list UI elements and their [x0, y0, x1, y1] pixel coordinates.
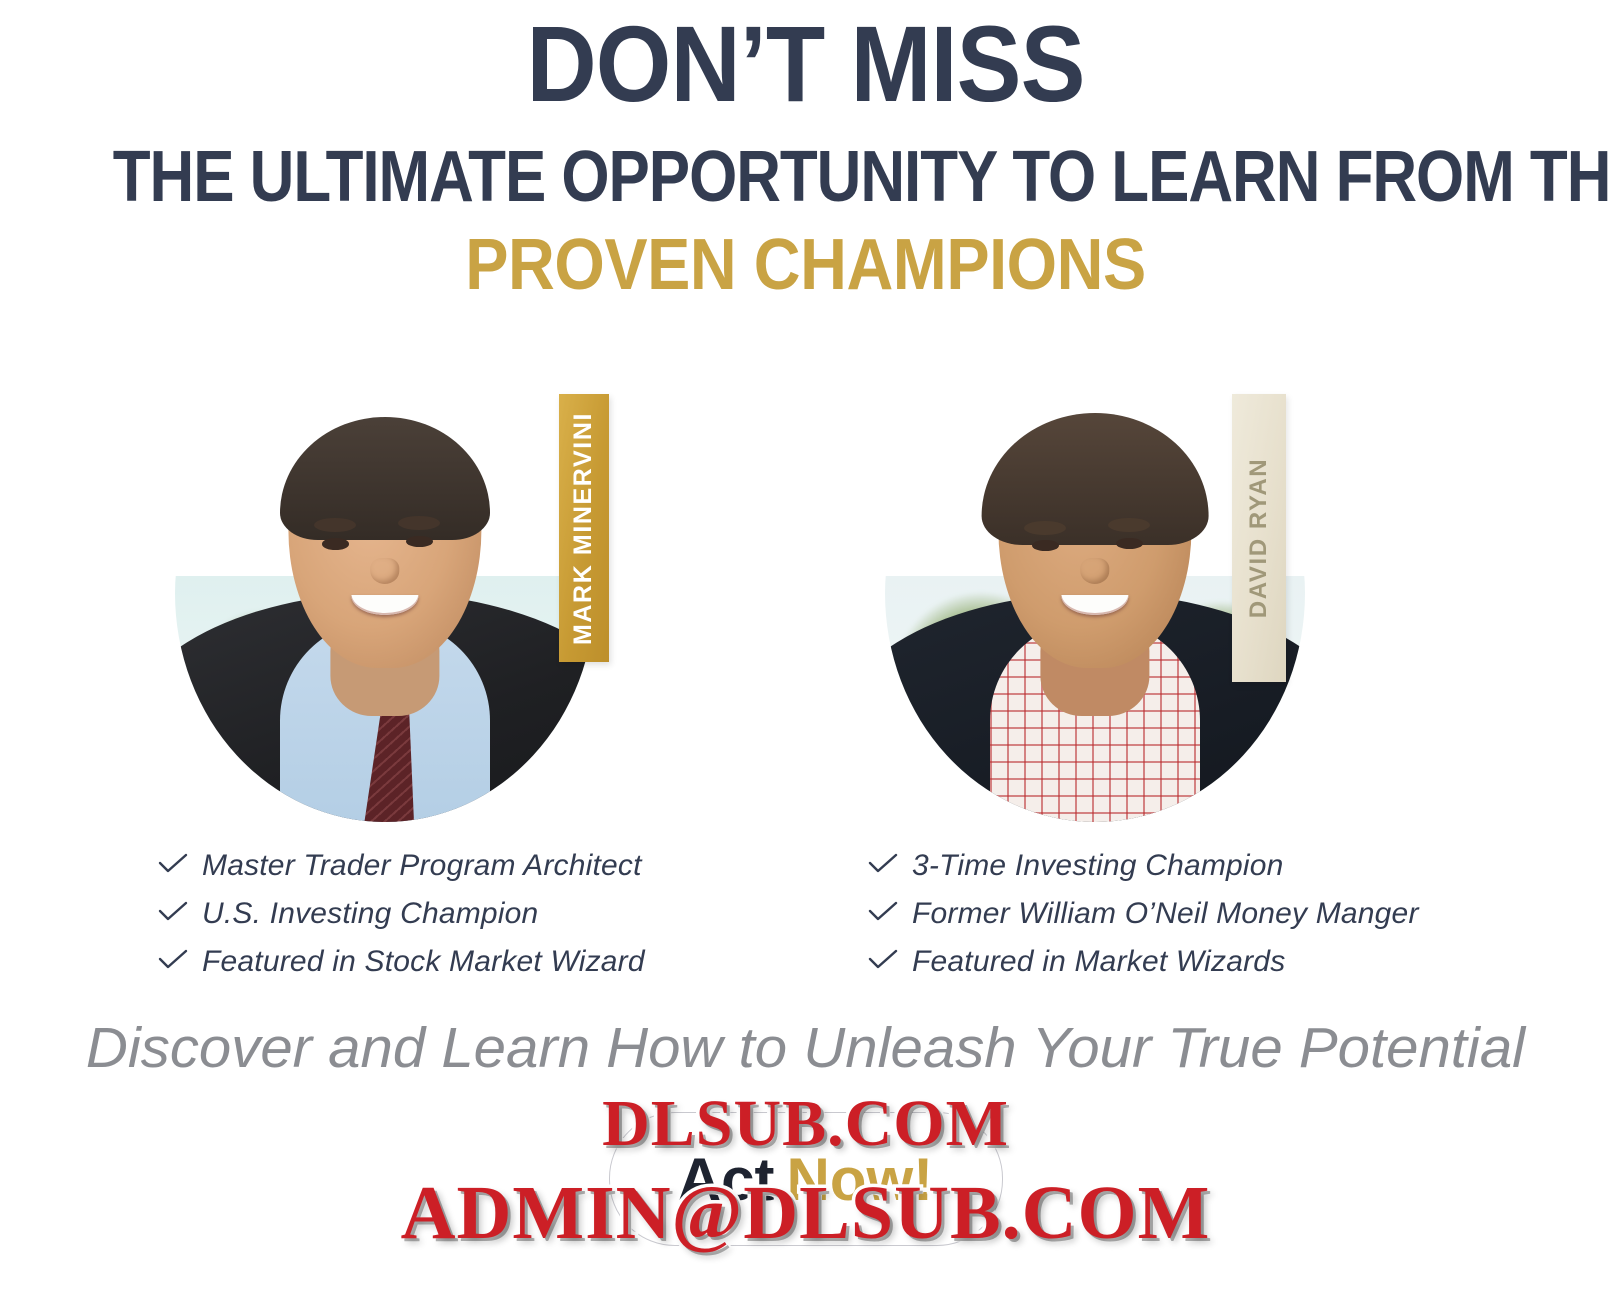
portrait-brow-left [1024, 521, 1066, 535]
headline-line-3: PROVEN CHAMPIONS [81, 226, 1531, 304]
portrait-eye-left [1032, 540, 1059, 551]
check-icon [158, 941, 202, 971]
credentials-list-mark-minervini: Master Trader Program Architect U.S. Inv… [158, 845, 645, 989]
watermark-email: ADMIN@DLSUB.COM [401, 1170, 1211, 1257]
speakers-row: MARK MINERVINI [0, 372, 1611, 842]
headline-line-2: THE ULTIMATE OPPORTUNITY TO LEARN FROM T… [113, 138, 1498, 216]
check-icon [868, 845, 912, 875]
headline-block: DON’T MISS THE ULTIMATE OPPORTUNITY TO L… [0, 0, 1611, 304]
speaker-name-label: DAVID RYAN [1245, 458, 1273, 618]
headline-line-1: DON’T MISS [81, 8, 1531, 120]
credential-label: Featured in Stock Market Wizard [202, 942, 645, 982]
speaker-name-banner-mark-minervini: MARK MINERVINI [559, 394, 609, 662]
credential-label: 3-Time Investing Champion [912, 846, 1284, 886]
check-icon [158, 845, 202, 875]
credential-label: Master Trader Program Architect [202, 846, 642, 886]
portrait-eye-right [1116, 538, 1143, 549]
credential-item: Featured in Stock Market Wizard [158, 941, 645, 989]
check-icon [868, 941, 912, 971]
credential-item: Master Trader Program Architect [158, 845, 645, 893]
check-icon [158, 893, 202, 923]
credentials-list-david-ryan: 3-Time Investing Champion Former William… [868, 845, 1419, 989]
portrait-brow-right [398, 516, 440, 530]
watermark-site: DLSUB.COM [602, 1086, 1009, 1162]
credential-label: Former William O’Neil Money Manger [912, 894, 1419, 934]
portrait-eye-left [322, 538, 349, 549]
credential-item: 3-Time Investing Champion [868, 845, 1419, 893]
credential-label: Featured in Market Wizards [912, 942, 1285, 982]
credential-item: U.S. Investing Champion [158, 893, 645, 941]
speaker-card-mark-minervini: MARK MINERVINI [175, 372, 645, 842]
tagline: Discover and Learn How to Unleash Your T… [0, 1016, 1611, 1080]
credential-item: Former William O’Neil Money Manger [868, 893, 1419, 941]
credentials-section: Master Trader Program Architect U.S. Inv… [0, 845, 1611, 975]
check-icon [868, 893, 912, 923]
speaker-name-banner-david-ryan: DAVID RYAN [1232, 394, 1286, 682]
credential-label: U.S. Investing Champion [202, 894, 538, 934]
speaker-portrait-mark-minervini [175, 382, 595, 822]
credential-item: Featured in Market Wizards [868, 941, 1419, 989]
speaker-name-label: MARK MINERVINI [570, 411, 599, 644]
speaker-portrait-wrap-left [175, 382, 595, 822]
speaker-card-david-ryan: DAVID RYAN [885, 372, 1355, 842]
